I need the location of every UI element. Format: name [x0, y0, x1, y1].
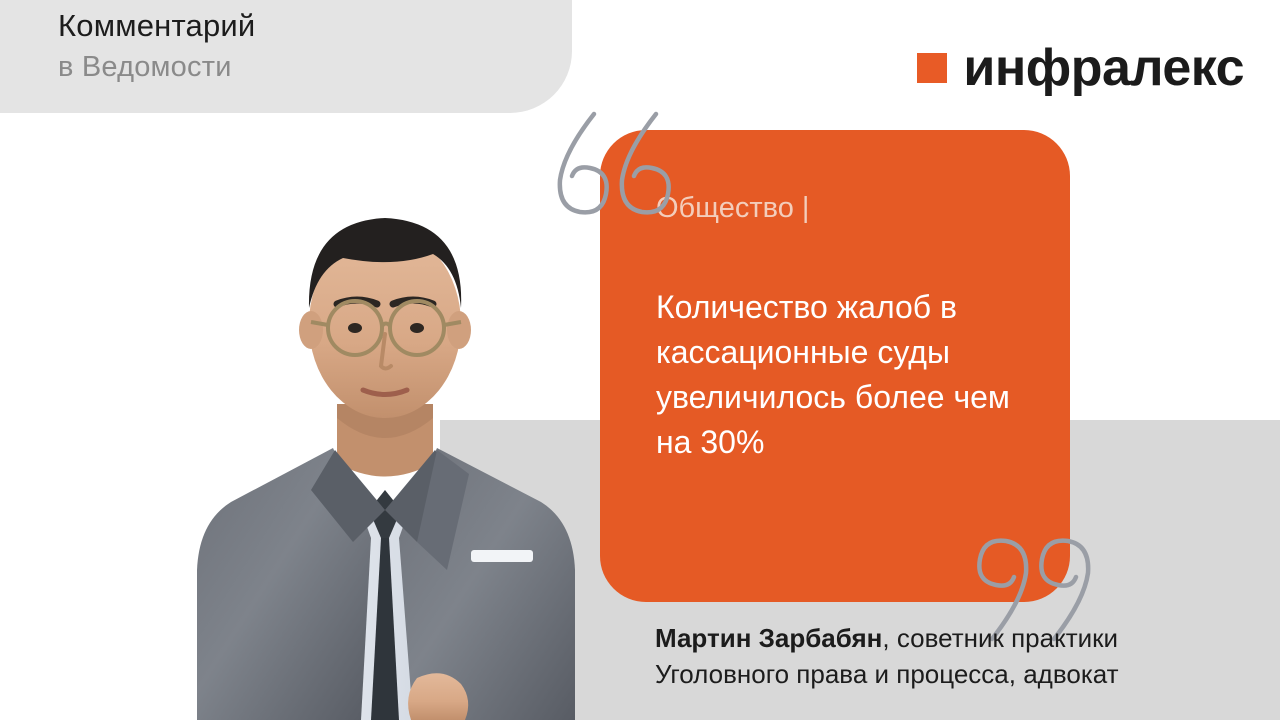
- card-headline: Количество жалоб в кассационные суды уве…: [656, 285, 1028, 465]
- header-title: Комментарий: [58, 8, 255, 44]
- portrait-photo: [185, 118, 585, 720]
- header-subtitle: в Ведомости: [58, 51, 232, 84]
- logo-wordmark: инфралекс: [963, 42, 1244, 94]
- attribution: Мартин Зарбабян, советник практики Уголо…: [655, 620, 1255, 692]
- logo-square-icon: [917, 53, 947, 83]
- speaker-name: Мартин Зарбабян: [655, 623, 882, 653]
- brand-logo: инфралекс: [917, 42, 1244, 94]
- slide-canvas: Комментарий в Ведомости инфралекс: [0, 0, 1280, 720]
- header-chip: Комментарий в Ведомости: [0, 0, 572, 113]
- quote-open-icon: [548, 108, 680, 220]
